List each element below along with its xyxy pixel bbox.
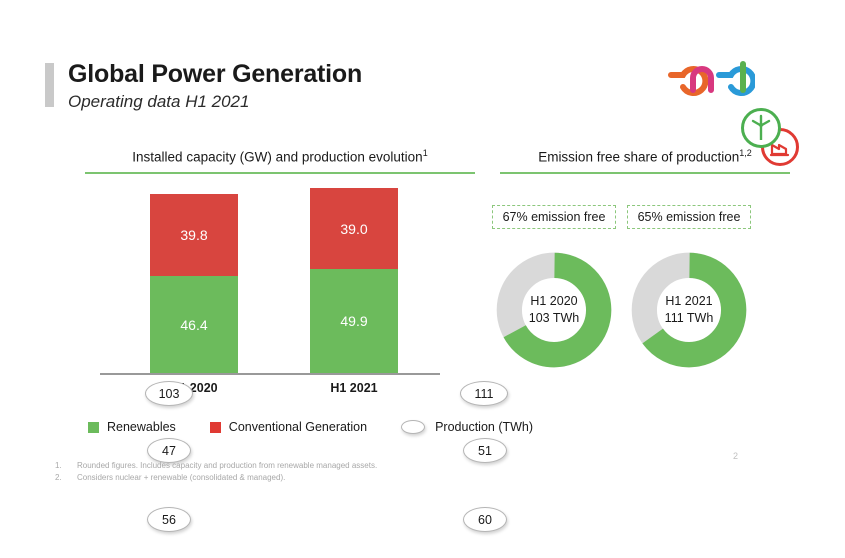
left-panel-heading-sup: 1 — [423, 148, 428, 158]
footnote-row: 1. Rounded figures. Includes capacity an… — [55, 461, 377, 470]
footnote-number: 1. — [55, 461, 77, 470]
donut-block: 65% emission free H1 2021 111 TWh — [627, 205, 751, 369]
legend-label: Production (TWh) — [435, 420, 533, 434]
donut-chart[interactable]: H1 2020 103 TWh — [492, 251, 616, 369]
donut-center-text: H1 2020 103 TWh — [492, 293, 616, 327]
production-pill-conventional-2020: 47 — [147, 438, 191, 463]
footnote-row: 2. Considers nuclear + renewable (consol… — [55, 473, 377, 482]
bar-group: 39.8 46.4 — [150, 194, 238, 373]
right-panel-heading-text: Emission free share of production — [538, 150, 739, 165]
donut-chart[interactable]: H1 2021 111 TWh — [627, 251, 751, 369]
stacked-bar-chart: 86.2 88.9 39.8 46.4 39.0 49.9 H1 2020 H1… — [60, 185, 480, 400]
right-panel-heading: Emission free share of production1,2 — [500, 148, 790, 174]
white-pill-icon — [401, 420, 425, 434]
legend-item-production: Production (TWh) — [401, 420, 533, 434]
bar-segment-renewables[interactable]: 49.9 — [310, 269, 398, 373]
production-pill-total-2021: 111 — [460, 381, 508, 406]
left-panel-heading-text: Installed capacity (GW) and production e… — [132, 150, 422, 165]
production-pill-total-2020: 103 — [145, 381, 193, 406]
emission-free-badge: 65% emission free — [627, 205, 751, 229]
donut-value: 111 TWh — [627, 310, 751, 327]
donut-period: H1 2021 — [627, 293, 751, 310]
wind-turbine-icon — [741, 108, 781, 148]
production-pill-conventional-2021: 51 — [463, 438, 507, 463]
left-panel-heading: Installed capacity (GW) and production e… — [85, 148, 475, 174]
donut-period: H1 2020 — [492, 293, 616, 310]
slide: Global Power Generation Operating data H… — [0, 0, 845, 558]
production-pill-renewables-2020: 56 — [147, 507, 191, 532]
bar-segment-conventional[interactable]: 39.8 — [150, 194, 238, 277]
left-panel-rule — [85, 172, 475, 175]
page-title: Global Power Generation — [68, 60, 362, 89]
stacked-bar[interactable]: 39.8 46.4 — [150, 194, 238, 373]
donut-center-text: H1 2021 111 TWh — [627, 293, 751, 327]
production-pill-renewables-2021: 60 — [463, 507, 507, 532]
legend-label: Conventional Generation — [229, 420, 367, 434]
stacked-bar[interactable]: 39.0 49.9 — [310, 188, 398, 373]
right-panel-rule — [500, 172, 790, 175]
legend-label: Renewables — [107, 420, 176, 434]
chart-legend: Renewables Conventional Generation Produ… — [88, 420, 567, 434]
legend-item-renewables: Renewables — [88, 420, 176, 434]
bar-group: 39.0 49.9 — [310, 188, 398, 373]
title-block: Global Power Generation Operating data H… — [68, 60, 362, 111]
donut-value: 103 TWh — [492, 310, 616, 327]
legend-item-conventional: Conventional Generation — [210, 420, 367, 434]
right-panel-heading-sup: 1,2 — [739, 148, 752, 158]
page-subtitle: Operating data H1 2021 — [68, 92, 362, 112]
bar-segment-renewables[interactable]: 46.4 — [150, 276, 238, 373]
donut-block: 67% emission free H1 2020 103 TWh — [492, 205, 616, 369]
x-axis-line — [100, 373, 440, 375]
green-square-icon — [88, 422, 99, 433]
page-number: 2 — [733, 451, 738, 461]
red-square-icon — [210, 422, 221, 433]
title-accent-bar — [45, 63, 54, 107]
bar-segment-conventional[interactable]: 39.0 — [310, 188, 398, 269]
footnote-number: 2. — [55, 473, 77, 482]
emission-free-badge: 67% emission free — [492, 205, 616, 229]
footnotes: 1. Rounded figures. Includes capacity an… — [55, 461, 377, 485]
x-axis-label: H1 2021 — [310, 381, 398, 395]
footnote-text: Considers nuclear + renewable (consolida… — [77, 473, 285, 482]
footnote-text: Rounded figures. Includes capacity and p… — [77, 461, 377, 470]
enel-logo — [655, 58, 755, 104]
